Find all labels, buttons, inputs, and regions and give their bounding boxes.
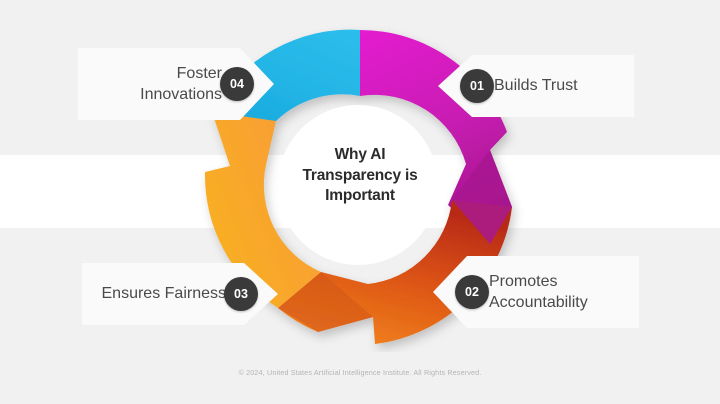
callout-badge-02: 02 [455,275,489,309]
wheel-center-title: Why AI Transparency is Important [272,145,448,207]
center-title-line-2: Transparency is [272,166,448,187]
callout-badge-03: 03 [224,277,258,311]
callout-label-04: Foster Innovations [140,63,222,105]
center-title-line-1: Why AI [272,145,448,166]
infographic-canvas: Why AI Transparency is Important Foster … [0,0,720,404]
copyright-footer: © 2024, United States Artificial Intelli… [0,368,720,377]
callout-promotes-accountability[interactable]: 02 Promotes Accountability [433,256,639,328]
callout-label-03: Ensures Fairness [102,283,227,304]
callout-foster-innovations[interactable]: Foster Innovations 04 [78,48,274,120]
callout-builds-trust[interactable]: 01 Builds Trust [438,55,634,117]
callout-label-01: Builds Trust [494,75,578,96]
callout-label-02: Promotes Accountability [489,271,588,313]
callout-ensures-fairness[interactable]: Ensures Fairness 03 [82,263,278,325]
callout-badge-01: 01 [460,69,494,103]
callout-badge-04: 04 [220,67,254,101]
center-title-line-3: Important [272,186,448,207]
